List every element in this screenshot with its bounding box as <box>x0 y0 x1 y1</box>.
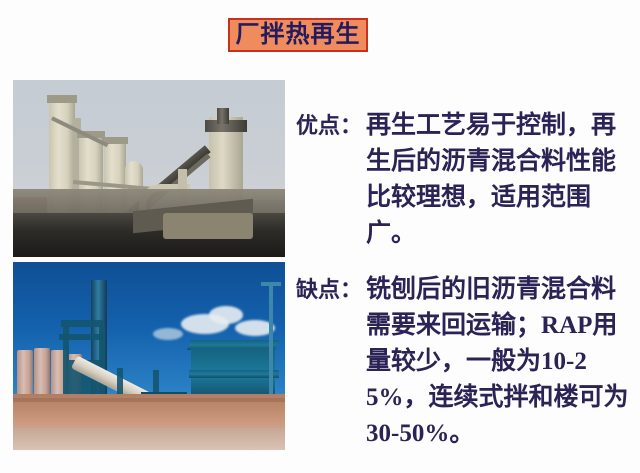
tower-right-stack <box>217 108 229 124</box>
disadvantages-text: 铣刨后的旧沥青混合料需要来回运输；RAP用量较少，一般为10-25%，连续式拌和… <box>366 272 640 452</box>
cloud-d <box>153 328 183 340</box>
foreground-road <box>13 428 285 450</box>
storage-tank-2 <box>34 348 50 394</box>
disadvantages-label: 缺点： <box>296 272 366 308</box>
points-column: 优点： 再生工艺易于控制，再生后的沥青混合料性能比较理想，适用范围广。 缺点： … <box>296 108 640 452</box>
advantages-label: 优点： <box>296 108 366 144</box>
disadvantages-block: 缺点： 铣刨后的旧沥青混合料需要来回运输；RAP用量较少，一般为10-25%，连… <box>296 272 640 452</box>
photo-asphalt-plant-blue-sky <box>13 262 285 450</box>
page-title: 厂拌热再生 <box>236 23 361 47</box>
advantages-text: 再生工艺易于控制，再生后的沥青混合料性能比较理想，适用范围广。 <box>366 108 640 252</box>
advantages-block: 优点： 再生工艺易于控制，再生后的沥青混合料性能比较理想，适用范围广。 <box>296 108 640 252</box>
machinery-yellow <box>163 213 253 239</box>
storage-tank-1 <box>17 350 33 394</box>
cloud-b <box>209 306 243 324</box>
bin-band <box>189 370 279 378</box>
light-pole-arm <box>261 282 281 286</box>
ground-shadow-line <box>13 398 285 402</box>
photo-asphalt-plant-grey-sky <box>13 80 285 257</box>
slide-canvas: 厂拌热再生 <box>0 0 640 473</box>
slide-title-box: 厂拌热再生 <box>228 18 368 52</box>
silo-cap-left <box>47 95 77 103</box>
